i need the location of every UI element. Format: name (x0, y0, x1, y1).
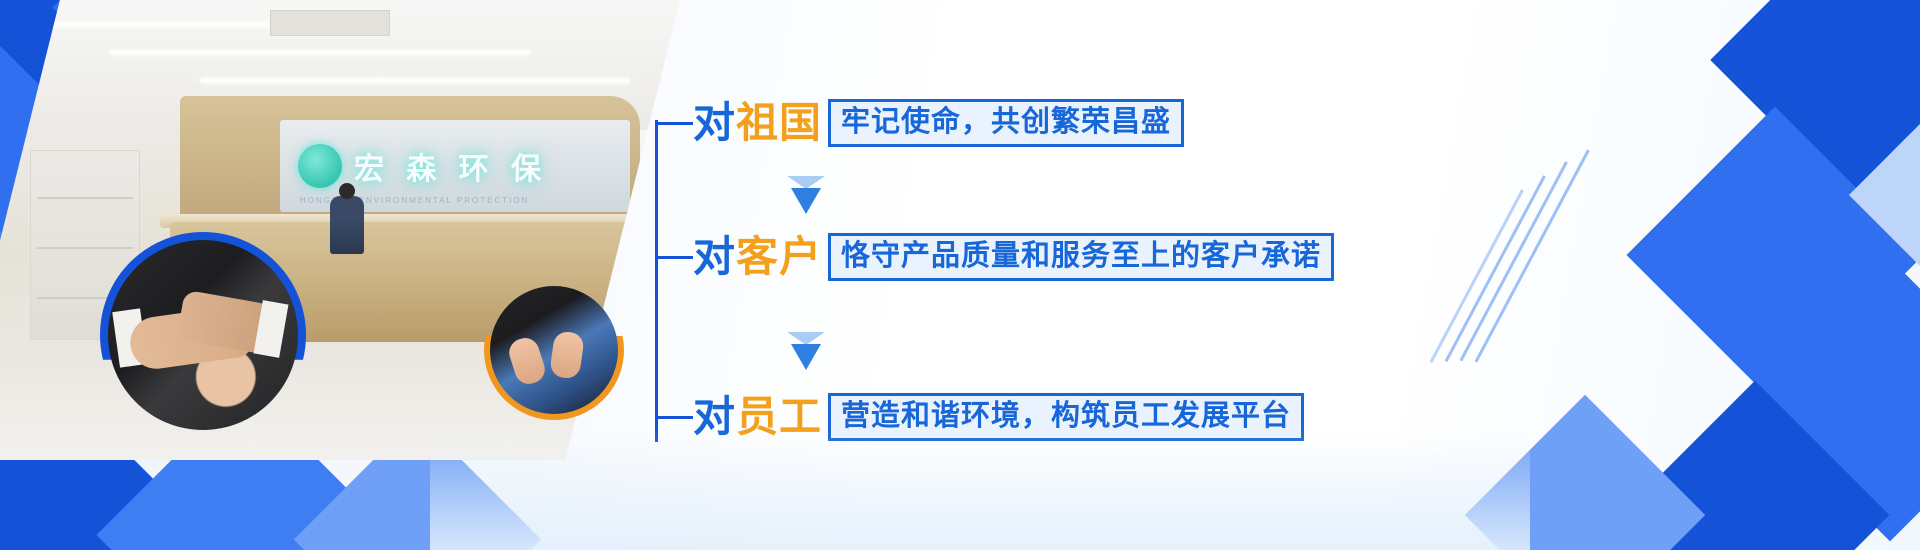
branch-connector-1 (655, 122, 693, 125)
palm-left (506, 334, 549, 387)
value-target-1: 祖国 (736, 102, 822, 144)
value-label-3: 对员工 (693, 396, 822, 438)
value-label-2: 对客户 (693, 236, 822, 278)
value-phrase-3: 营造和谐环境，构筑员工发展平台 (828, 393, 1304, 442)
decor-stripe-2 (1460, 161, 1568, 361)
handshake-circle-photo (108, 240, 298, 430)
company-values-banner: 宏 森 环 保 HONGSEN ENVIRONMENTAL PROTECTION (0, 0, 1920, 550)
decor-stripe-4 (1430, 189, 1524, 363)
decor-stripe-1 (1475, 149, 1590, 362)
handshake-image (108, 240, 298, 430)
value-label-1: 对祖国 (693, 102, 822, 144)
value-row-3: 对员工 营造和谐环境，构筑员工发展平台 (655, 390, 1304, 444)
applause-circle-photo (490, 286, 618, 414)
decor-stripe-3 (1445, 175, 1546, 362)
down-arrow-1 (791, 188, 821, 214)
value-phrase-2: 恪守产品质量和服务至上的客户承诺 (828, 233, 1334, 282)
value-prefix-3: 对 (693, 396, 736, 438)
value-prefix-1: 对 (693, 102, 736, 144)
branch-connector-2 (655, 256, 693, 259)
down-arrow-2 (791, 344, 821, 370)
staff-person (330, 196, 364, 254)
palm-right (549, 330, 585, 380)
value-target-3: 员工 (736, 396, 822, 438)
company-sign-text: 宏 森 环 保 (354, 144, 548, 188)
value-row-2: 对客户 恪守产品质量和服务至上的客户承诺 (655, 230, 1334, 284)
value-prefix-2: 对 (693, 236, 736, 278)
value-target-2: 客户 (736, 236, 822, 278)
company-logo-icon (298, 144, 342, 188)
applause-image (490, 286, 618, 414)
branch-connector-3 (655, 416, 693, 419)
values-list: 对祖国 牢记使命，共创繁荣昌盛 对客户 恪守产品质量和服务至上的客户承诺 对员工… (655, 78, 1375, 478)
value-phrase-1: 牢记使命，共创繁荣昌盛 (828, 99, 1184, 148)
value-row-1: 对祖国 牢记使命，共创繁荣昌盛 (655, 96, 1184, 150)
